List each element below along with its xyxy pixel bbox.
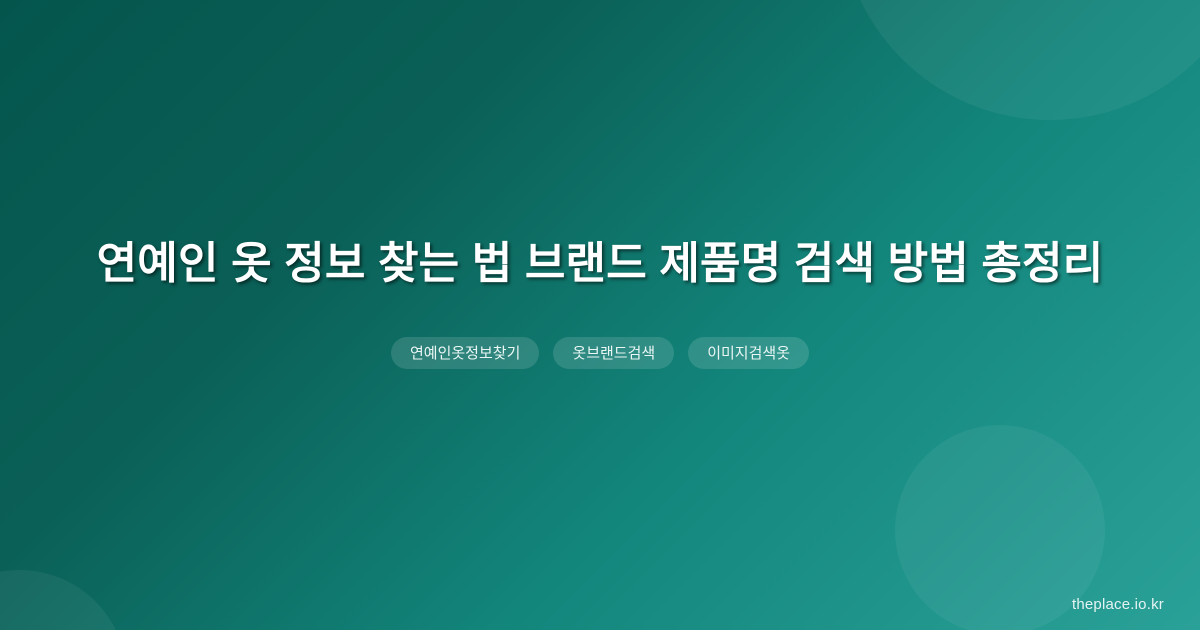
tag-chip-1[interactable]: 연예인옷정보찾기 bbox=[391, 337, 539, 369]
tag-chip-3[interactable]: 이미지검색옷 bbox=[688, 337, 809, 369]
tag-list: 연예인옷정보찾기 옷브랜드검색 이미지검색옷 bbox=[391, 337, 809, 369]
og-share-card: 연예인 옷 정보 찾는 법 브랜드 제품명 검색 방법 총정리 연예인옷정보찾기… bbox=[0, 0, 1200, 630]
site-watermark: theplace.io.kr bbox=[1072, 597, 1164, 612]
page-title: 연예인 옷 정보 찾는 법 브랜드 제품명 검색 방법 총정리 bbox=[90, 235, 1110, 294]
decorative-circle-bottom-left-icon bbox=[0, 570, 127, 630]
decorative-circle-top-right-icon bbox=[840, 0, 1200, 120]
card-content: 연예인 옷 정보 찾는 법 브랜드 제품명 검색 방법 총정리 연예인옷정보찾기… bbox=[60, 235, 1140, 370]
tag-chip-2[interactable]: 옷브랜드검색 bbox=[553, 337, 674, 369]
